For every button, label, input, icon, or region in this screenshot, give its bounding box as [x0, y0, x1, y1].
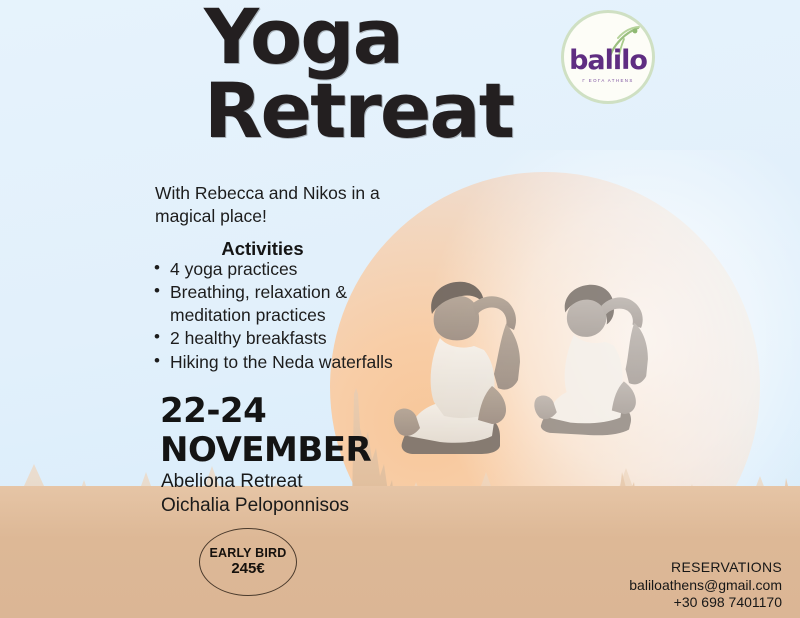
logo-tagline: Γ ΕΟΓΑ ΑΤΗΕΝS	[564, 78, 652, 83]
reservations-phone[interactable]: +30 698 7401170	[629, 594, 782, 612]
list-item: Breathing, relaxation & meditation pract…	[170, 281, 420, 326]
venue-line-1: Abeliona Retreat	[161, 470, 349, 494]
early-bird-price: 245€	[231, 560, 264, 577]
logo-wordmark: balilo	[564, 47, 652, 74]
list-item: 2 healthy breakfasts	[170, 327, 420, 349]
reservations-email[interactable]: baliloathens@gmail.com	[629, 577, 782, 595]
list-item: 4 yoga practices	[170, 258, 420, 280]
poster-canvas: Yoga Retreat balilo Γ ΕΟΓΑ ΑΤΗΕΝS With R…	[0, 0, 800, 618]
title-line-2: Retreat	[204, 76, 624, 146]
poster-title: Yoga Retreat	[204, 2, 624, 146]
intro-text: With Rebecca and Nikos in a magical plac…	[155, 182, 405, 228]
early-bird-badge: EARLY BIRD 245€	[199, 528, 297, 596]
event-date-day: 22-24	[160, 394, 266, 428]
list-item: Hiking to the Neda waterfalls	[170, 351, 420, 373]
reservations-title: RESERVATIONS	[629, 559, 782, 577]
early-bird-label: EARLY BIRD	[209, 547, 286, 561]
activities-heading: Activities	[155, 238, 370, 260]
reservations-block: RESERVATIONS baliloathens@gmail.com +30 …	[629, 559, 782, 612]
balilo-logo[interactable]: balilo Γ ΕΟΓΑ ΑΤΗΕΝS	[561, 10, 655, 104]
event-date-month: NOVEMBER	[160, 433, 371, 467]
venue-line-2: Oichalia Peloponnisos	[161, 494, 349, 518]
activities-list: 4 yoga practices Breathing, relaxation &…	[148, 258, 420, 374]
event-venue: Abeliona Retreat Oichalia Peloponnisos	[161, 470, 349, 518]
